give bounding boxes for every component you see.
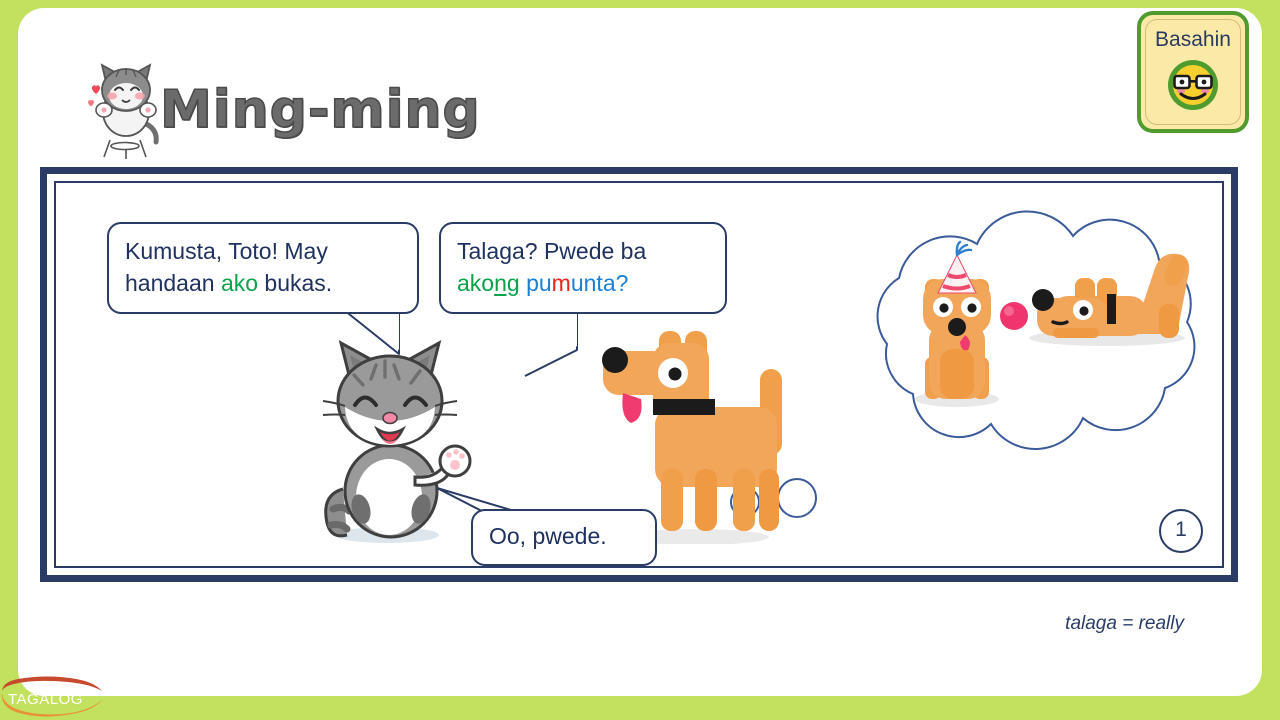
bubble2-seg-ng: ng — [494, 270, 520, 296]
tagalog-logo: TAGALOG — [0, 676, 110, 720]
bubble3-line1: Oo, pwede. — [489, 521, 639, 553]
bubble2-seg-unta: unta — [571, 270, 616, 296]
header: Ming-ming Basahin — [18, 8, 1262, 158]
basahin-badge[interactable]: Basahin — [1137, 11, 1249, 133]
bubble2-line2: akong pumunta? — [457, 268, 709, 300]
tagalog-logo-text: TAGALOG — [8, 691, 83, 708]
speech-bubble-cat-2: Oo, pwede. — [471, 509, 657, 566]
basahin-label: Basahin — [1141, 28, 1245, 52]
bubble2-seg-question: ? — [616, 270, 629, 296]
bubble1-line1: Kumusta, Toto! May — [125, 236, 401, 268]
bubble2-seg-ako: ako — [457, 270, 494, 296]
bubble1-seg-c: bukas. — [258, 270, 332, 296]
bubble2-seg-m: m — [552, 270, 571, 296]
cat-mascot-icon — [80, 60, 172, 160]
bubble1-line2: handaan ako bukas. — [125, 268, 401, 300]
speech-bubble-dog-1: Talaga? Pwede ba akong pumunta? — [439, 222, 727, 314]
bubble2-seg-pu: pu — [526, 270, 552, 296]
bubble1-seg-a: handaan — [125, 270, 221, 296]
comic-frame: Kumusta, Toto! May handaan ako bukas. Ta… — [40, 167, 1238, 582]
speech-bubble-cat-1: Kumusta, Toto! May handaan ako bukas. — [107, 222, 419, 314]
page-number-badge: 1 — [1159, 509, 1203, 553]
bubble1-seg-highlight: ako — [221, 270, 258, 296]
slide-root: Ming-ming Basahin — [0, 0, 1280, 720]
white-card: Ming-ming Basahin — [18, 8, 1262, 696]
page-title: Ming-ming — [160, 80, 481, 140]
vocabulary-footnote: talaga = really — [1065, 613, 1184, 635]
nerd-face-emoji-icon — [1166, 58, 1220, 112]
bubble2-line1: Talaga? Pwede ba — [457, 236, 709, 268]
thought-cloud — [827, 194, 1227, 484]
